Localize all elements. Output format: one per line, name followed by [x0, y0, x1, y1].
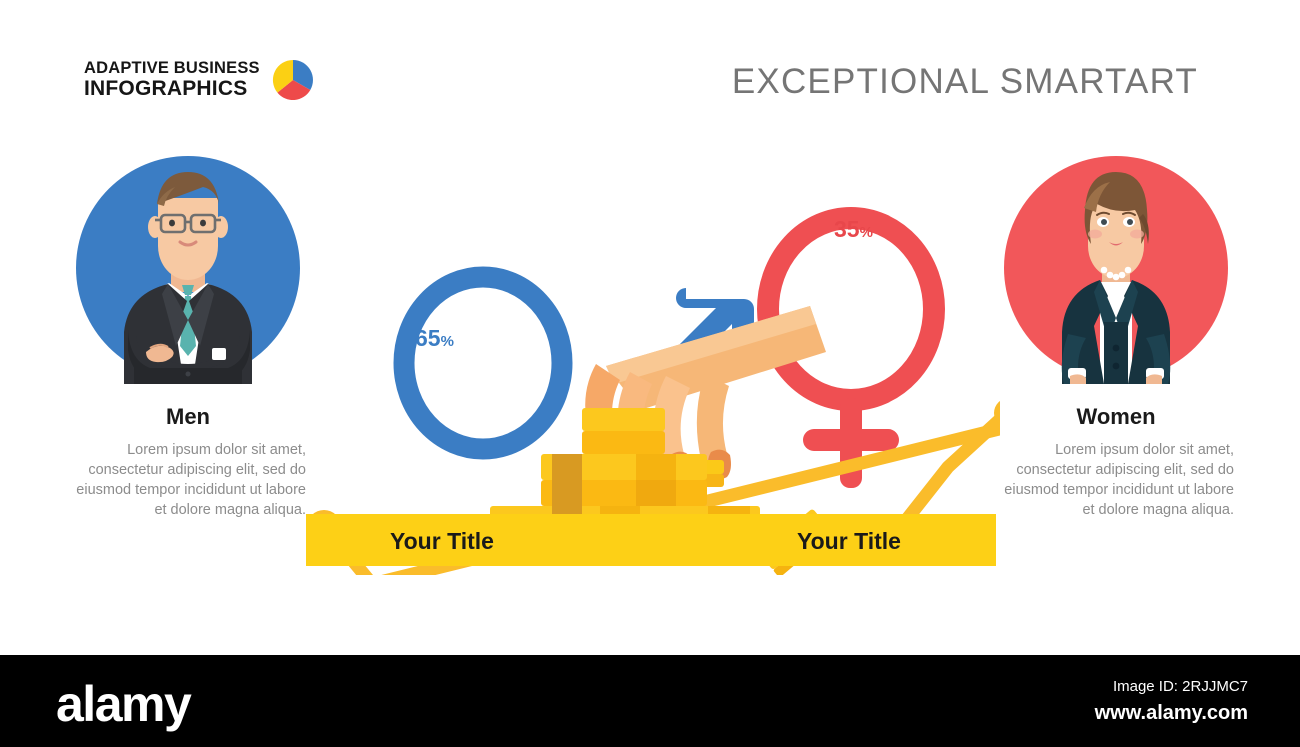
person-description-men: Lorem ipsum dolor sit amet, consectetur … [70, 440, 306, 521]
person-description-women: Lorem ipsum dolor sit amet, consectetur … [998, 440, 1234, 521]
person-column-women: Women Lorem ipsum dolor sit amet, consec… [998, 152, 1234, 521]
female-percentage-value: 35 [834, 216, 860, 242]
businessman-avatar [72, 152, 304, 384]
website-label: www.alamy.com [1095, 702, 1248, 725]
brand-logo-line2: INFOGRAPHICS [84, 77, 260, 101]
male-percentage-label: 65% [415, 325, 454, 352]
female-percentage-unit: % [860, 224, 873, 241]
balance-scale-illustration: 65% 35% [300, 150, 1000, 575]
title-left[interactable]: Your Title [390, 528, 494, 555]
person-name-women: Women [998, 404, 1234, 430]
male-percentage-unit: % [441, 333, 454, 350]
title-right[interactable]: Your Title [797, 528, 901, 555]
brand-logo-text: ADAPTIVE BUSINESS INFOGRAPHICS [84, 59, 260, 101]
watermark-footer: alamy Image ID: 2RJJMC7 www.alamy.com [0, 655, 1300, 747]
female-percentage-label: 35% [834, 216, 873, 243]
brand-logo-line1: ADAPTIVE BUSINESS [84, 59, 260, 77]
infographic-slide: ADAPTIVE BUSINESS INFOGRAPHICS EXCEPTION… [0, 0, 1300, 747]
person-column-men: Men Lorem ipsum dolor sit amet, consecte… [70, 152, 306, 521]
male-percentage-value: 65 [415, 325, 441, 351]
pie-chart-icon [271, 58, 315, 102]
alamy-brand: alamy [56, 675, 190, 733]
person-name-men: Men [70, 404, 306, 430]
brand-logo: ADAPTIVE BUSINESS INFOGRAPHICS [84, 58, 315, 102]
page-title: EXCEPTIONAL SMARTART [732, 62, 1198, 102]
businesswoman-avatar [1000, 152, 1232, 384]
image-id-label: Image ID: 2RJJMC7 [1113, 678, 1248, 695]
